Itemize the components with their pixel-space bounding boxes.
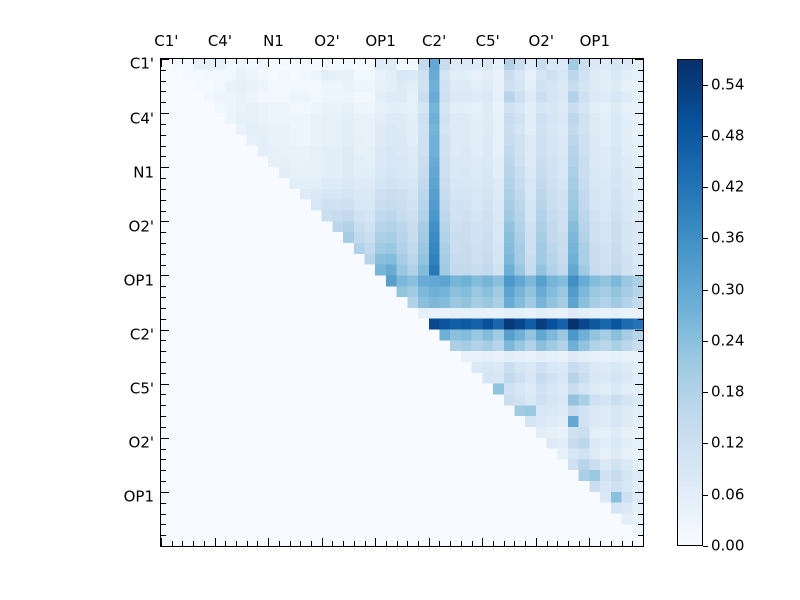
x-tick-bot-8: [247, 541, 248, 546]
y-tick-right-3: [638, 91, 643, 92]
y-tick-left-42: [161, 514, 166, 515]
x-tick-top-45: [643, 59, 644, 64]
colorbar-tick-9: [703, 85, 708, 86]
y-tick-left-32: [161, 405, 166, 406]
y-tick-right-33: [638, 416, 643, 417]
x-tick-bot-35: [536, 538, 537, 546]
y-tick-left-43: [161, 524, 166, 525]
y-tick-right-22: [638, 297, 643, 298]
x-tick-bot-40: [589, 538, 590, 546]
x-tick-bot-33: [514, 541, 515, 546]
y-tick-left-44: [161, 535, 166, 536]
x-tick-top-30: [482, 59, 483, 67]
y-tick-left-34: [161, 427, 166, 428]
x-tick-top-14: [311, 59, 312, 64]
x-tick-top-39: [579, 59, 580, 64]
x-tick-bot-25: [429, 538, 430, 546]
y-tick-left-3: [161, 91, 166, 92]
y-tick-left-36: [161, 449, 166, 450]
x-axis-label-6: C5': [476, 34, 500, 49]
x-axis-label-8: OP1: [580, 34, 610, 49]
y-tick-left-17: [161, 243, 166, 244]
y-axis-label-0: C1': [130, 57, 154, 72]
x-tick-bot-34: [525, 541, 526, 546]
x-axis-label-5: C2': [422, 34, 446, 49]
colorbar-tick-7: [703, 187, 708, 188]
y-tick-left-0: [161, 59, 169, 60]
y-tick-right-1: [638, 70, 643, 71]
y-tick-right-32: [638, 405, 643, 406]
colorbar-tick-4: [703, 341, 708, 342]
x-tick-top-12: [290, 59, 291, 64]
x-tick-top-28: [461, 59, 462, 64]
x-tick-top-44: [632, 59, 633, 64]
x-tick-bot-41: [600, 541, 601, 546]
colorbar-tick-1: [703, 495, 708, 496]
y-tick-right-28: [638, 362, 643, 363]
x-tick-top-0: [161, 59, 162, 67]
x-tick-bot-18: [354, 541, 355, 546]
y-tick-right-39: [638, 481, 643, 482]
colorbar-label-9: 0.54: [711, 78, 744, 93]
y-tick-right-38: [638, 470, 643, 471]
y-tick-left-37: [161, 459, 166, 460]
y-tick-right-29: [638, 373, 643, 374]
x-tick-top-37: [557, 59, 558, 64]
y-tick-left-30: [161, 384, 169, 385]
x-tick-bot-6: [225, 541, 226, 546]
colorbar-label-5: 0.30: [711, 283, 744, 298]
y-tick-left-11: [161, 178, 166, 179]
x-tick-bot-15: [322, 538, 323, 546]
y-tick-left-23: [161, 308, 166, 309]
colorbar-tick-8: [703, 136, 708, 137]
y-axis-label-1: C4': [130, 111, 154, 126]
y-tick-right-6: [638, 124, 643, 125]
y-tick-right-27: [638, 351, 643, 352]
x-tick-bot-44: [632, 541, 633, 546]
y-tick-right-45: [638, 546, 643, 547]
colorbar-label-2: 0.12: [711, 436, 744, 451]
x-tick-bot-32: [504, 541, 505, 546]
x-tick-top-15: [322, 59, 323, 67]
y-tick-left-15: [161, 221, 169, 222]
x-tick-top-33: [514, 59, 515, 64]
x-tick-top-31: [493, 59, 494, 64]
y-tick-left-18: [161, 254, 166, 255]
y-axis-label-5: C2': [130, 327, 154, 342]
y-tick-left-10: [161, 167, 169, 168]
x-tick-top-6: [225, 59, 226, 64]
heatmap-plot-area: [161, 59, 643, 546]
x-tick-bot-9: [257, 541, 258, 546]
y-tick-right-19: [638, 265, 643, 266]
y-tick-right-35: [635, 438, 643, 439]
x-tick-bot-21: [386, 541, 387, 546]
y-tick-right-4: [638, 102, 643, 103]
colorbar-tick-6: [703, 238, 708, 239]
x-tick-top-22: [397, 59, 398, 64]
x-tick-bot-20: [375, 538, 376, 546]
y-axis-label-4: OP1: [124, 273, 154, 288]
y-tick-left-22: [161, 297, 166, 298]
y-axis-label-6: C5': [130, 382, 154, 397]
x-tick-bot-24: [418, 541, 419, 546]
colorbar-tick-3: [703, 392, 708, 393]
x-axis-label-7: O2': [528, 34, 553, 49]
y-tick-left-8: [161, 146, 166, 147]
x-tick-bot-23: [407, 541, 408, 546]
x-axis-label-3: O2': [314, 34, 339, 49]
y-tick-right-16: [638, 232, 643, 233]
x-tick-bot-26: [439, 541, 440, 546]
x-tick-bot-30: [482, 538, 483, 546]
y-tick-left-21: [161, 286, 166, 287]
y-tick-right-37: [638, 459, 643, 460]
x-tick-bot-12: [290, 541, 291, 546]
x-tick-top-24: [418, 59, 419, 64]
y-tick-right-17: [638, 243, 643, 244]
y-tick-right-31: [638, 394, 643, 395]
x-tick-bot-5: [215, 538, 216, 546]
x-tick-top-5: [215, 59, 216, 67]
y-tick-left-28: [161, 362, 166, 363]
x-tick-top-4: [204, 59, 205, 64]
y-tick-left-40: [161, 492, 169, 493]
y-tick-left-4: [161, 102, 166, 103]
x-tick-bot-22: [397, 541, 398, 546]
x-tick-bot-43: [622, 541, 623, 546]
x-tick-top-41: [600, 59, 601, 64]
y-axis-label-3: O2': [129, 219, 154, 234]
x-tick-bot-7: [236, 541, 237, 546]
y-tick-right-25: [635, 330, 643, 331]
y-tick-left-5: [161, 113, 169, 114]
y-axis-label-8: OP1: [124, 490, 154, 505]
x-tick-bot-2: [182, 541, 183, 546]
y-tick-right-2: [638, 81, 643, 82]
y-tick-left-33: [161, 416, 166, 417]
heatmap-matrix: [160, 58, 644, 547]
y-tick-right-44: [638, 535, 643, 536]
y-tick-right-20: [635, 275, 643, 276]
y-tick-left-2: [161, 81, 166, 82]
x-tick-top-8: [247, 59, 248, 64]
y-tick-left-39: [161, 481, 166, 482]
y-tick-right-43: [638, 524, 643, 525]
y-tick-left-7: [161, 135, 166, 136]
y-tick-right-41: [638, 503, 643, 504]
x-tick-bot-36: [547, 541, 548, 546]
x-tick-top-3: [193, 59, 194, 64]
x-tick-bot-4: [204, 541, 205, 546]
x-tick-bot-1: [172, 541, 173, 546]
y-tick-right-11: [638, 178, 643, 179]
colorbar-label-8: 0.48: [711, 129, 744, 144]
colorbar-label-4: 0.24: [711, 334, 744, 349]
y-tick-right-10: [635, 167, 643, 168]
y-tick-left-45: [161, 546, 166, 547]
y-tick-right-24: [638, 319, 643, 320]
x-tick-top-18: [354, 59, 355, 64]
y-tick-right-0: [635, 59, 643, 60]
colorbar-gradient: [677, 59, 703, 546]
y-tick-right-13: [638, 200, 643, 201]
figure-root: C1'C4'N1O2'OP1C2'C5'O2'OP1 C1'C4'N1O2'OP…: [0, 0, 800, 600]
x-tick-bot-37: [557, 541, 558, 546]
x-tick-bot-39: [579, 541, 580, 546]
x-tick-top-34: [525, 59, 526, 64]
y-tick-right-34: [638, 427, 643, 428]
x-tick-bot-14: [311, 541, 312, 546]
x-tick-bot-29: [472, 541, 473, 546]
x-tick-top-21: [386, 59, 387, 64]
y-tick-left-6: [161, 124, 166, 125]
colorbar-label-3: 0.18: [711, 385, 744, 400]
x-axis-label-0: C1': [154, 34, 178, 49]
x-tick-top-25: [429, 59, 430, 67]
x-axis-label-4: OP1: [365, 34, 395, 49]
y-tick-right-36: [638, 449, 643, 450]
x-tick-top-23: [407, 59, 408, 64]
y-tick-left-12: [161, 189, 166, 190]
x-tick-top-7: [236, 59, 237, 64]
y-tick-right-23: [638, 308, 643, 309]
y-tick-left-41: [161, 503, 166, 504]
x-tick-bot-17: [343, 541, 344, 546]
x-axis-label-2: N1: [263, 34, 284, 49]
x-tick-bot-45: [643, 541, 644, 546]
x-tick-top-38: [568, 59, 569, 64]
x-tick-top-26: [439, 59, 440, 64]
x-tick-bot-11: [279, 541, 280, 546]
x-tick-bot-38: [568, 541, 569, 546]
colorbar-label-7: 0.42: [711, 180, 744, 195]
y-axis-label-7: O2': [129, 436, 154, 451]
y-tick-left-24: [161, 319, 166, 320]
colorbar-tick-0: [703, 546, 708, 547]
x-tick-top-9: [257, 59, 258, 64]
x-tick-bot-42: [611, 541, 612, 546]
x-tick-bot-19: [365, 541, 366, 546]
colorbar-label-1: 0.06: [711, 488, 744, 503]
y-tick-left-16: [161, 232, 166, 233]
x-tick-top-17: [343, 59, 344, 64]
y-tick-left-27: [161, 351, 166, 352]
x-axis-label-1: C4': [208, 34, 232, 49]
y-tick-left-29: [161, 373, 166, 374]
y-tick-right-14: [638, 211, 643, 212]
x-tick-top-19: [365, 59, 366, 64]
y-tick-left-13: [161, 200, 166, 201]
x-tick-top-35: [536, 59, 537, 67]
x-tick-bot-3: [193, 541, 194, 546]
x-tick-bot-13: [300, 541, 301, 546]
x-tick-bot-31: [493, 541, 494, 546]
x-tick-bot-28: [461, 541, 462, 546]
y-tick-left-20: [161, 275, 169, 276]
y-tick-left-9: [161, 156, 166, 157]
y-tick-right-40: [635, 492, 643, 493]
y-tick-right-26: [638, 340, 643, 341]
x-tick-top-42: [611, 59, 612, 64]
x-tick-bot-10: [268, 538, 269, 546]
y-tick-right-21: [638, 286, 643, 287]
x-tick-top-10: [268, 59, 269, 67]
x-tick-top-20: [375, 59, 376, 67]
y-tick-left-14: [161, 211, 166, 212]
y-tick-right-7: [638, 135, 643, 136]
y-tick-left-38: [161, 470, 166, 471]
y-tick-right-15: [635, 221, 643, 222]
x-tick-top-1: [172, 59, 173, 64]
y-tick-left-35: [161, 438, 169, 439]
y-tick-left-31: [161, 394, 166, 395]
colorbar-tick-2: [703, 443, 708, 444]
x-tick-top-11: [279, 59, 280, 64]
x-tick-top-36: [547, 59, 548, 64]
x-tick-top-40: [589, 59, 590, 67]
x-tick-bot-16: [332, 541, 333, 546]
colorbar: 0.000.060.120.180.240.300.360.420.480.54: [677, 59, 703, 546]
y-tick-left-1: [161, 70, 166, 71]
x-tick-top-13: [300, 59, 301, 64]
x-tick-top-16: [332, 59, 333, 64]
x-tick-top-29: [472, 59, 473, 64]
y-tick-right-42: [638, 514, 643, 515]
y-tick-right-5: [635, 113, 643, 114]
x-tick-top-2: [182, 59, 183, 64]
y-tick-left-19: [161, 265, 166, 266]
colorbar-label-0: 0.00: [711, 539, 744, 554]
y-tick-right-30: [635, 384, 643, 385]
y-tick-right-9: [638, 156, 643, 157]
x-tick-top-27: [450, 59, 451, 64]
x-tick-top-32: [504, 59, 505, 64]
colorbar-label-6: 0.36: [711, 231, 744, 246]
y-tick-left-26: [161, 340, 166, 341]
y-axis-label-2: N1: [133, 165, 154, 180]
y-tick-right-18: [638, 254, 643, 255]
colorbar-tick-5: [703, 290, 708, 291]
y-tick-left-25: [161, 330, 169, 331]
x-tick-bot-0: [161, 538, 162, 546]
x-tick-bot-27: [450, 541, 451, 546]
x-tick-top-43: [622, 59, 623, 64]
y-tick-right-12: [638, 189, 643, 190]
y-tick-right-8: [638, 146, 643, 147]
